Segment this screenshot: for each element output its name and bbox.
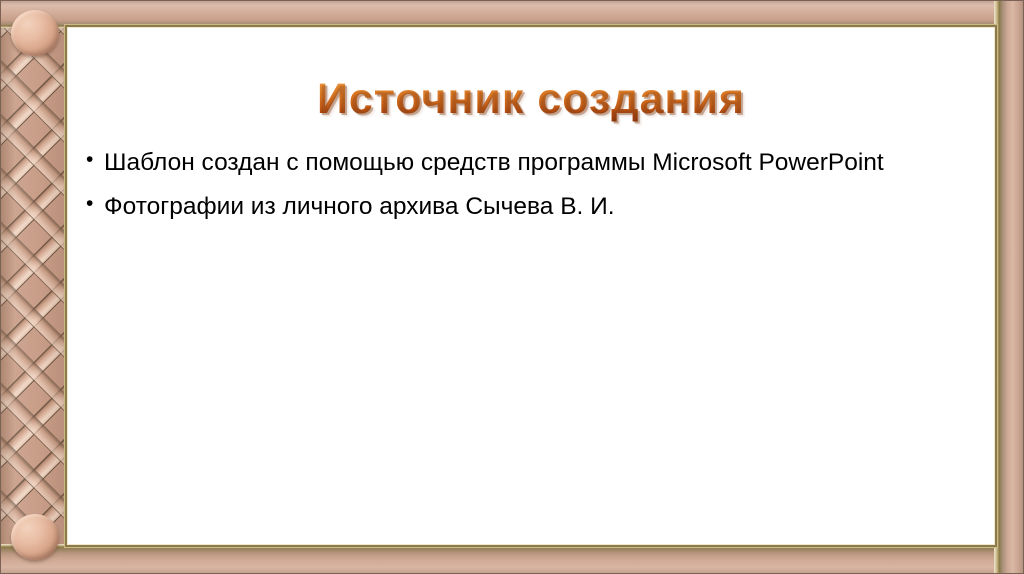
slide-content-panel: Источник создания Шаблон создан с помощь… xyxy=(68,28,994,544)
lattice-shading-overlay xyxy=(0,0,68,574)
title-container: Источник создания xyxy=(68,48,994,151)
list-item: Шаблон создан с помощью средств программ… xyxy=(86,148,960,178)
slide-title: Источник создания xyxy=(317,77,745,122)
top-border-band xyxy=(0,0,1024,28)
left-lattice-border xyxy=(0,0,68,574)
bottom-border-band xyxy=(0,544,1024,574)
stud-top-icon xyxy=(11,10,59,56)
stud-bottom-icon xyxy=(11,514,59,560)
right-border-band xyxy=(994,0,1024,574)
list-item: Фотографии из личного архива Сычева В. И… xyxy=(86,192,960,222)
presentation-slide: Источник создания Шаблон создан с помощь… xyxy=(0,0,1024,574)
bullet-list: Шаблон создан с помощью средств программ… xyxy=(86,148,960,236)
